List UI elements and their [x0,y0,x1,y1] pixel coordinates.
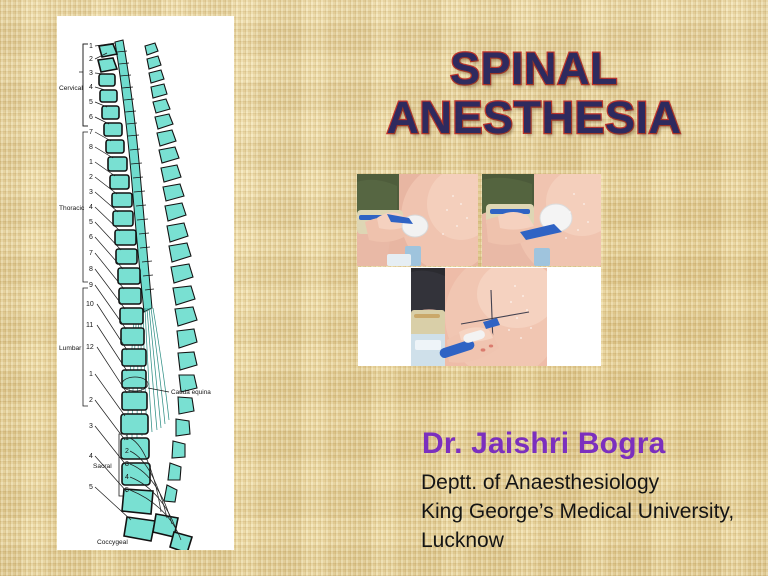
svg-text:5: 5 [89,484,93,491]
svg-text:4: 4 [89,204,93,211]
spine-diagram-graphic: .vb{fill:#79e0d2;stroke:#121212;stroke-w… [57,16,234,550]
svg-text:8: 8 [89,144,93,151]
svg-text:3: 3 [89,189,93,196]
region-label-lumbar: Lumbar [59,345,82,352]
affiliation-line-2: King George’s Medical University, [421,497,761,526]
svg-text:8: 8 [89,266,93,273]
svg-text:6: 6 [89,234,93,241]
svg-text:1: 1 [89,371,93,378]
svg-text:4: 4 [125,474,129,481]
region-label-coccygeal: Coccygeal [97,539,128,546]
spine-anatomy-diagram: .vb{fill:#79e0d2;stroke:#121212;stroke-w… [57,16,234,550]
slide-title: SPINAL ANESTHESIA [310,44,758,142]
svg-text:10: 10 [86,301,94,308]
svg-text:1: 1 [89,159,93,166]
svg-text:4: 4 [89,84,93,91]
svg-text:6: 6 [89,114,93,121]
svg-text:7: 7 [89,129,93,136]
svg-text:3: 3 [89,70,93,77]
region-label-thoracic: Thoracic [59,205,85,212]
affiliation-line-3: Lucknow [421,526,761,555]
region-label-cervical: Cervical [59,85,83,92]
author-name: Dr. Jaishri Bogra [422,427,666,461]
svg-text:2: 2 [89,56,93,63]
svg-text:5: 5 [125,487,129,494]
author-affiliation: Deptt. of Anaesthesiology King George’s … [421,468,761,555]
svg-text:4: 4 [89,453,93,460]
photo-skin-prep-right-graphic [482,174,601,266]
photo-skin-prep-left [357,174,478,266]
presentation-slide: .vb{fill:#79e0d2;stroke:#121212;stroke-w… [0,0,768,576]
affiliation-line-1: Deptt. of Anaesthesiology [421,468,761,497]
svg-text:2: 2 [89,397,93,404]
slide-title-line-1: SPINAL [310,44,758,93]
photo-needle-insertion-graphic [411,268,547,366]
slide-title-line-2: ANESTHESIA [310,93,758,142]
photo-needle-insertion [411,268,547,366]
svg-text:3: 3 [125,461,129,468]
procedure-photo-group [357,174,601,366]
svg-text:1: 1 [125,435,129,442]
svg-text:7: 7 [89,250,93,257]
svg-text:Cauda equina: Cauda equina [171,389,211,396]
photo-skin-prep-right [482,174,601,266]
svg-text:9: 9 [89,282,93,289]
svg-text:11: 11 [86,322,93,329]
svg-text:5: 5 [89,219,93,226]
svg-text:5: 5 [89,99,93,106]
svg-text:12: 12 [86,344,94,351]
photo-skin-prep-left-graphic [357,174,478,266]
svg-text:3: 3 [89,423,93,430]
svg-text:2: 2 [89,174,93,181]
svg-text:1: 1 [89,43,93,50]
svg-text:2: 2 [125,448,129,455]
